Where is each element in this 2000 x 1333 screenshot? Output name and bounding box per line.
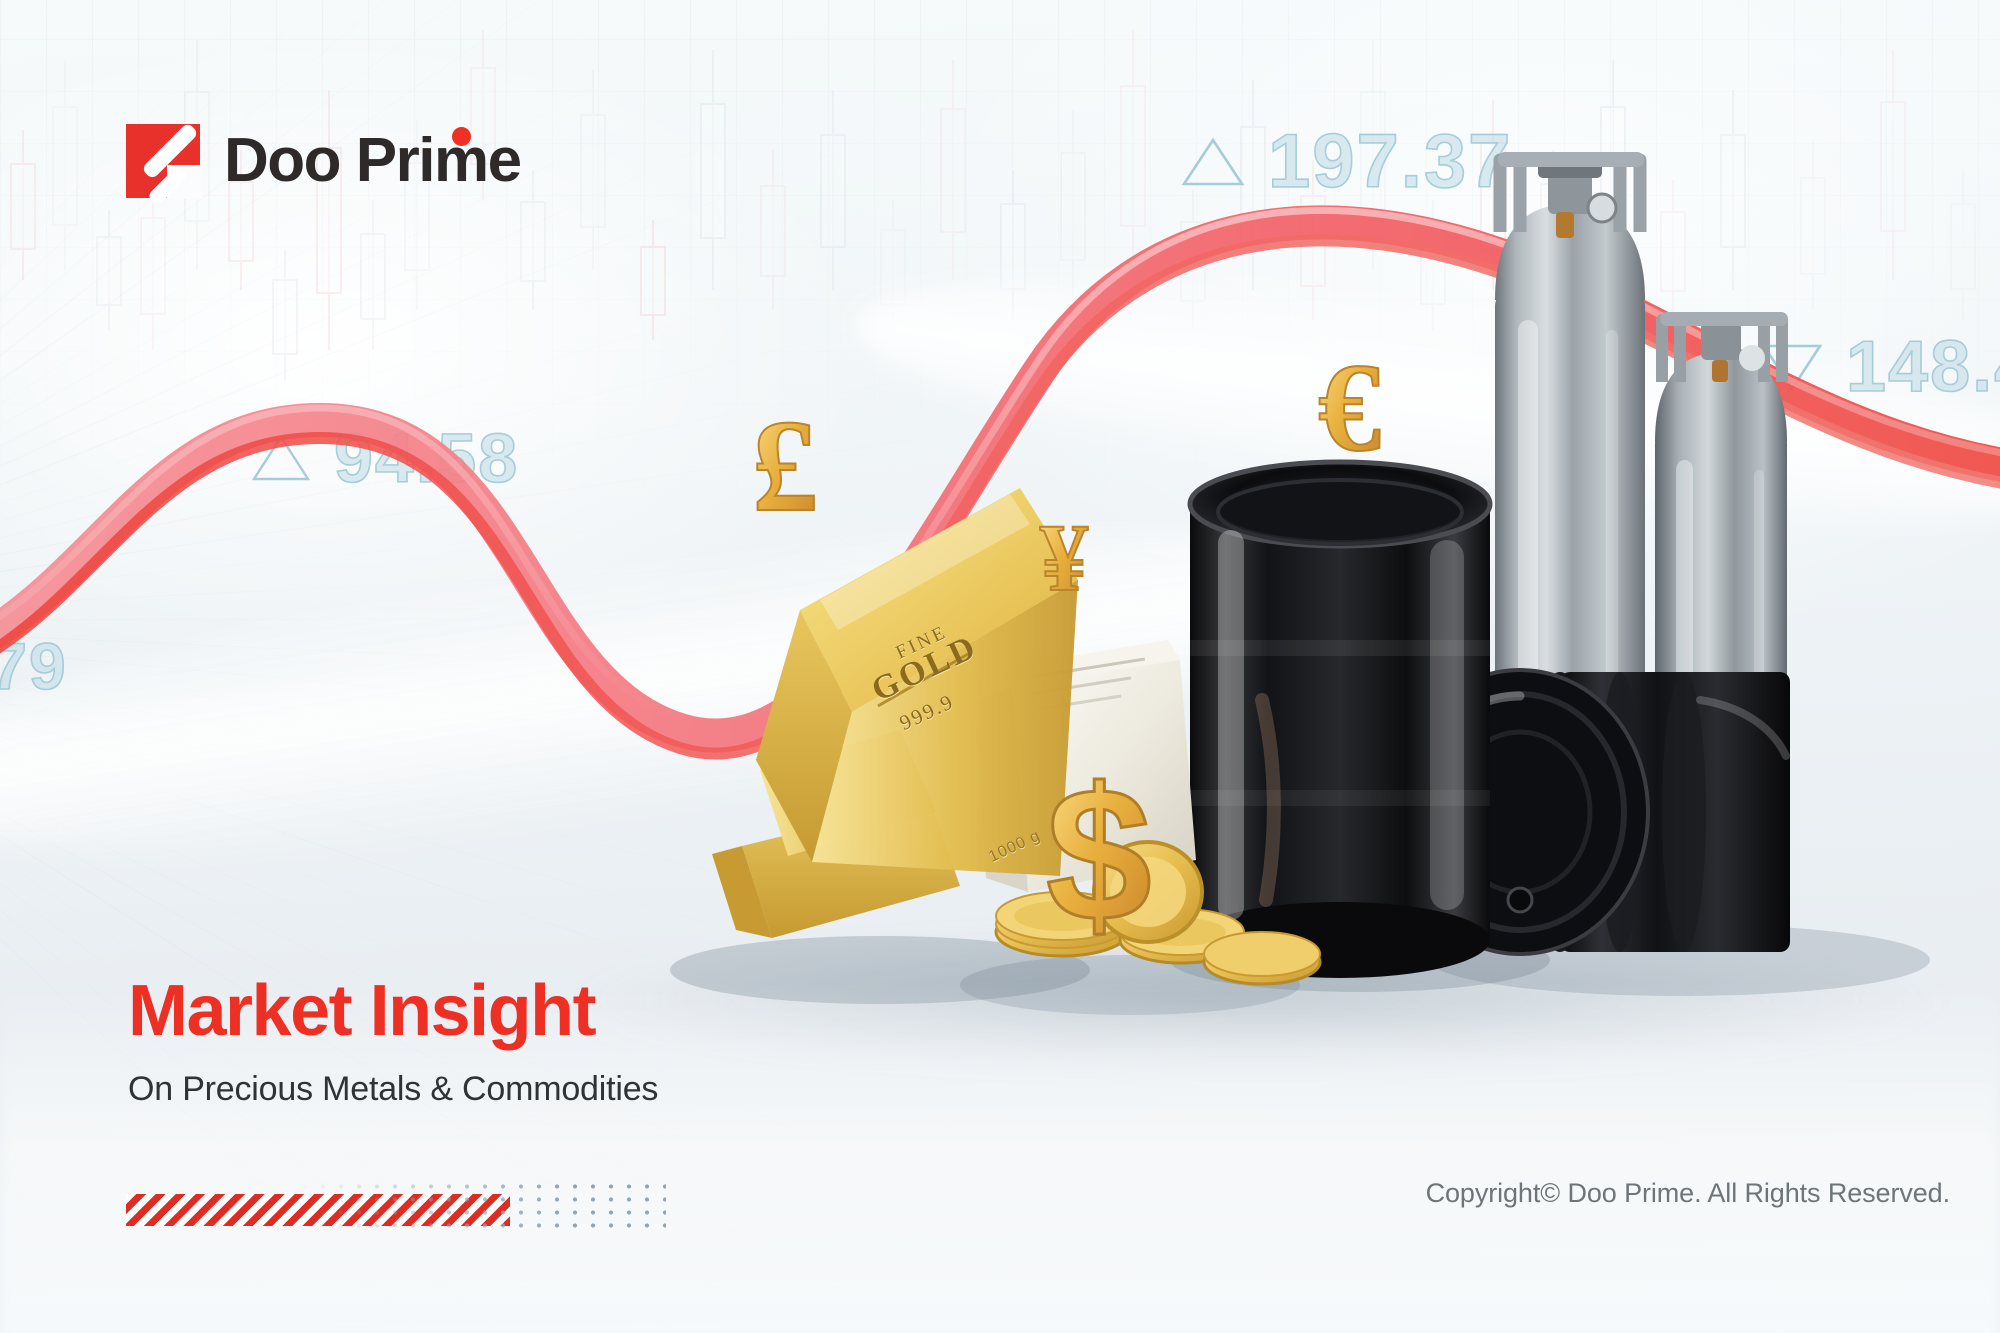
banner-canvas: 94.58 197.37 148.48 .79 (0, 0, 2000, 1333)
svg-text:¥: ¥ (1040, 504, 1088, 611)
brand-wordmark-text: Doo Prime (224, 126, 521, 195)
accent-bar (126, 1180, 666, 1230)
svg-text:$: $ (1046, 749, 1152, 961)
page-subtitle: On Precious Metals & Commodities (128, 1070, 658, 1109)
copyright-text: Copyright© Doo Prime. All Rights Reserve… (1426, 1178, 1950, 1209)
commodities-scene: £ ¥ € $ (0, 0, 2000, 1333)
svg-text:€: € (1318, 339, 1381, 478)
page-title: Market Insight (128, 975, 658, 1048)
euro-symbol: € (1318, 339, 1381, 478)
doo-prime-mark-icon (126, 124, 200, 198)
wordmark-dot-icon (452, 127, 471, 146)
brand-wordmark: Doo Prime (224, 130, 521, 192)
brand-logo[interactable]: Doo Prime (126, 124, 521, 198)
svg-text:£: £ (752, 392, 818, 539)
pound-symbol: £ (752, 392, 818, 539)
yen-symbol: ¥ (1040, 504, 1088, 611)
oil-barrel-upright (1190, 462, 1490, 978)
headline-block: Market Insight On Precious Metals & Comm… (128, 975, 658, 1109)
gold-bars (712, 488, 1078, 938)
dollar-symbol: $ (1046, 749, 1152, 961)
accent-dot-matrix (296, 1180, 666, 1228)
